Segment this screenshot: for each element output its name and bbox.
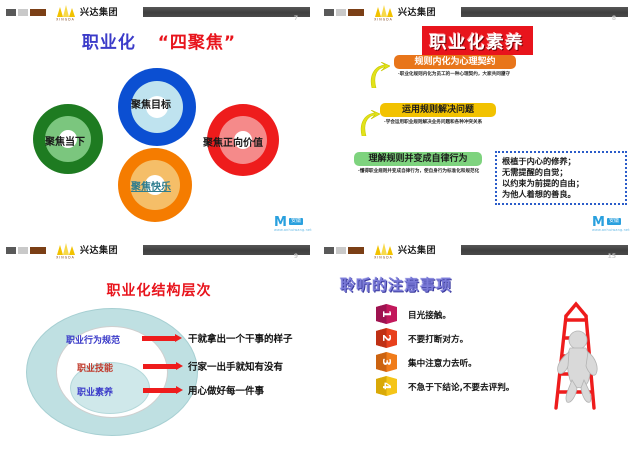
listening-item-3: 集中注意力去听。	[408, 357, 477, 369]
page-title: 职业化结构层次	[0, 280, 318, 300]
listening-item-1: 目光接触。	[408, 309, 451, 321]
step-box-2: 运用规则解决问题	[380, 103, 496, 117]
layer-label-2: 职业技能	[77, 361, 113, 374]
layer-statement-2: 行家一出手就知有没有	[188, 359, 283, 373]
callout-line-2: 无需提醒的自觉；	[502, 167, 620, 178]
slide-literacy: X I N G D A 兴达集团 8 职业化素养 规则内化为心理契约 ·职业化规…	[318, 0, 636, 238]
svg-text:X I N G D A: X I N G D A	[374, 18, 392, 21]
callout-box: 根植于内心的修养； 无需提醒的自觉； 以约束为前提的自由； 为他人着想的善良。	[495, 151, 627, 205]
callout-line-3: 以约束为前提的自由；	[502, 178, 620, 189]
header-square-dark	[6, 9, 16, 16]
svg-text:X I N G D A: X I N G D A	[56, 18, 74, 21]
slide-header: X I N G D A 兴达集团 9	[0, 238, 318, 262]
callout-line-4: 为他人着想的善良。	[502, 189, 620, 200]
slide-page-number: 7	[294, 14, 298, 24]
slide-structure: X I N G D A 兴达集团 9 职业化结构层次 职业行为规范 职业技能 职…	[0, 238, 318, 476]
company-logo-icon: X I N G D A	[52, 241, 78, 259]
ladder-climber-illustration	[536, 300, 610, 410]
step-box-1: 规则内化为心理契约	[394, 55, 516, 69]
slide-listening: X I N G D A 兴达集团 15 聆听的注意事项 1 2 3	[318, 238, 636, 476]
page-title-wrap: 职业化素养	[318, 26, 636, 55]
header-bar: 7	[143, 7, 310, 17]
watermark-logo: M 安徽 www.anhuiwang.net	[592, 217, 630, 233]
header-square-brown	[30, 247, 46, 254]
step-box-3: 理解规则并变成自律行为	[354, 152, 482, 166]
ribbon-number-3: 3	[376, 352, 397, 372]
donut-label-value: 聚焦正向价值	[203, 134, 263, 149]
svg-text:1: 1	[380, 310, 393, 318]
slide-header: X I N G D A 兴达集团 15	[318, 238, 636, 262]
callout-line-1: 根植于内心的修养；	[502, 156, 620, 167]
company-logo-icon: X I N G D A	[370, 3, 396, 21]
arrow-right-icon	[142, 334, 182, 343]
header-bar: 8	[461, 7, 628, 17]
listening-item-2: 不要打断对方。	[408, 333, 468, 345]
curved-arrow-icon	[358, 110, 380, 136]
layer-label-3: 职业素养	[77, 385, 113, 398]
donut-label-now: 聚焦当下	[45, 133, 85, 148]
page-title: 聆听的注意事项	[340, 274, 452, 295]
watermark-url: www.anhuiwang.net	[592, 228, 630, 232]
header-square-grey	[336, 247, 346, 254]
slide-page-number: 8	[612, 14, 616, 24]
page-title: 职业化素养	[422, 26, 533, 55]
company-name: 兴达集团	[398, 5, 436, 18]
arrow-right-icon	[143, 362, 183, 371]
header-square-dark	[6, 247, 16, 254]
curved-arrow-icon	[368, 62, 390, 88]
donut-label-joy: 聚焦快乐	[131, 178, 171, 193]
company-name: 兴达集团	[80, 5, 118, 18]
watermark-badge: 安徽	[289, 218, 303, 225]
step-note-3: ·懂得职业规则并变成自律行为，使自身行为标准化和规范化	[358, 169, 508, 176]
page-title-plain: 职业化	[82, 33, 136, 53]
slide-header: X I N G D A 兴达集团 7	[0, 0, 318, 24]
watermark-badge: 安徽	[607, 218, 621, 225]
header-square-grey	[336, 9, 346, 16]
header-square-grey	[18, 247, 28, 254]
header-bar: 15	[461, 245, 628, 255]
header-square-brown	[348, 9, 364, 16]
step-note-2: ·学会运用职业规则解决业务问题和各种冲突关系	[384, 120, 534, 127]
slide-page-number: 9	[294, 252, 298, 262]
arrow-right-icon	[143, 386, 183, 395]
svg-text:2: 2	[380, 334, 393, 342]
layer-label-1: 职业行为规范	[66, 333, 120, 346]
svg-text:X I N G D A: X I N G D A	[56, 256, 74, 259]
ribbon-number-4: 4	[376, 376, 397, 396]
svg-text:X I N G D A: X I N G D A	[374, 256, 392, 259]
layer-statement-1: 干就拿出一个干事的样子	[188, 331, 293, 345]
step-note-1: ·职业化规则内化为员工的一种心理契约，大家共同遵守	[398, 72, 548, 79]
svg-text:3: 3	[380, 358, 393, 366]
header-square-brown	[30, 9, 46, 16]
slide-focus: X I N G D A 兴达集团 7 职业化 “四聚焦” 聚焦目标 聚焦当下	[0, 0, 318, 238]
company-name: 兴达集团	[398, 243, 436, 256]
watermark-logo: M 安徽 www.anhuiwang.net	[274, 217, 312, 233]
layer-statement-3: 用心做好每一件事	[188, 383, 264, 397]
company-logo-icon: X I N G D A	[52, 3, 78, 21]
ribbon-number-1: 1	[376, 304, 397, 324]
header-bar: 9	[143, 245, 310, 255]
header-square-dark	[324, 9, 334, 16]
slide-header: X I N G D A 兴达集团 8	[318, 0, 636, 24]
page-title-accent: “四聚焦”	[158, 33, 236, 53]
company-name: 兴达集团	[80, 243, 118, 256]
listening-item-4: 不急于下结论,不要去评判。	[408, 381, 514, 393]
slide-handout-page: X I N G D A 兴达集团 7 职业化 “四聚焦” 聚焦目标 聚焦当下	[0, 0, 636, 476]
header-square-dark	[324, 247, 334, 254]
slide-page-number: 15	[608, 252, 616, 262]
header-square-brown	[348, 247, 364, 254]
ribbon-number-2: 2	[376, 328, 397, 348]
page-title: 职业化 “四聚焦”	[0, 28, 318, 53]
donut-label-goal: 聚焦目标	[131, 96, 171, 111]
watermark-url: www.anhuiwang.net	[274, 228, 312, 232]
header-square-grey	[18, 9, 28, 16]
svg-text:4: 4	[380, 382, 393, 390]
company-logo-icon: X I N G D A	[370, 241, 396, 259]
